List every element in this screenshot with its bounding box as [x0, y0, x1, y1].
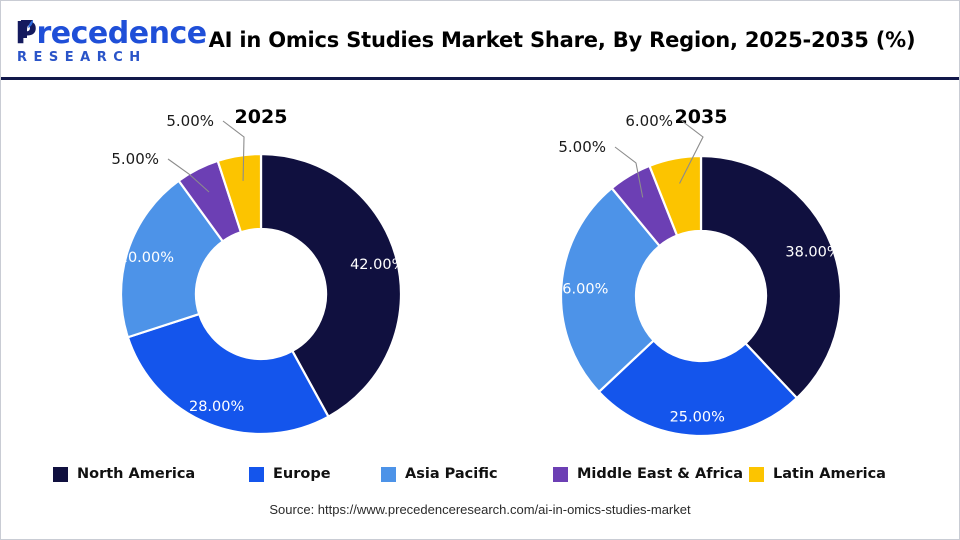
legend-item-label: Europe	[273, 466, 331, 482]
donut-charts-svg: 42.00%28.00%20.00%5.00%5.00% 38.00%25.00…	[1, 80, 959, 450]
slice-value-label: 5.00%	[166, 112, 214, 130]
precedence-research-logo: Precedence RESEARCH	[15, 17, 175, 67]
slice-value-label: 38.00%	[785, 245, 840, 261]
legend-color-swatch	[53, 467, 68, 482]
legend-color-swatch	[249, 467, 264, 482]
slice-value-label: 42.00%	[350, 257, 405, 273]
legend-color-swatch	[553, 467, 568, 482]
charts-area: 2025 2035 42.00%28.00%20.00%5.00%5.00% 3…	[1, 80, 959, 450]
legend-item-label: Latin America	[773, 466, 886, 482]
leaf-mark-icon	[19, 19, 36, 39]
legend-item[interactable]: Europe	[249, 464, 331, 484]
legend-color-swatch	[381, 467, 396, 482]
slice-value-label: 5.00%	[111, 150, 159, 168]
legend-item[interactable]: North America	[53, 464, 195, 484]
slice-value-label: 20.00%	[119, 250, 174, 266]
slice-value-label: 6.00%	[625, 112, 673, 130]
page-title: AI in Omics Studies Market Share, By Reg…	[177, 28, 947, 52]
slice-value-label: 26.00%	[553, 281, 608, 297]
donut-chart-2035: 38.00%25.00%26.00%6.00%5.00%	[553, 112, 841, 436]
page-header: Precedence RESEARCH AI in Omics Studies …	[1, 1, 959, 80]
legend-item-label: Middle East & Africa	[577, 466, 743, 482]
legend-item[interactable]: Middle East & Africa	[553, 464, 743, 484]
legend-item-label: Asia Pacific	[405, 466, 498, 482]
legend-item-label: North America	[77, 466, 195, 482]
logo-subtext: RESEARCH	[17, 50, 147, 65]
legend-item[interactable]: Asia Pacific	[381, 464, 498, 484]
slice-value-label: 25.00%	[670, 409, 725, 425]
donut-chart-2025: 42.00%28.00%20.00%5.00%5.00%	[111, 112, 405, 434]
legend-color-swatch	[749, 467, 764, 482]
donut-slice	[128, 314, 329, 434]
page-footer: Source: https://www.precedenceresearch.c…	[1, 501, 959, 519]
slice-value-label: 5.00%	[558, 138, 606, 156]
chart-page: Precedence RESEARCH AI in Omics Studies …	[0, 0, 960, 540]
chart-legend: North AmericaEuropeAsia PacificMiddle Ea…	[1, 461, 959, 489]
source-label: Source: https://www.precedenceresearch.c…	[269, 502, 690, 517]
slice-value-label: 28.00%	[189, 399, 244, 415]
legend-item[interactable]: Latin America	[749, 464, 886, 484]
